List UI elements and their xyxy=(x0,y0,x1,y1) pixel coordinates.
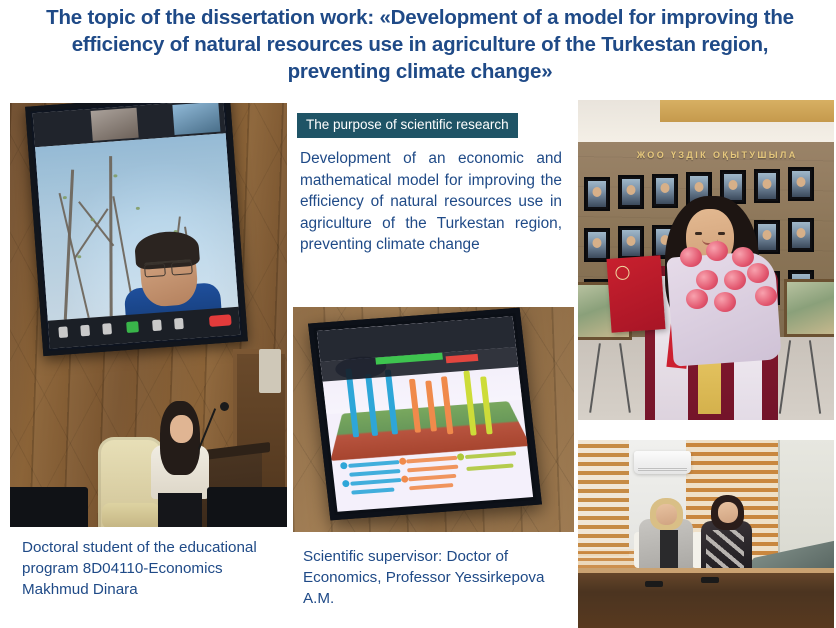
rose xyxy=(696,270,718,290)
purpose-body-text: Development of an economic and mathemati… xyxy=(300,148,562,256)
microphone-head xyxy=(220,402,229,411)
ceiling-trim xyxy=(660,100,834,122)
desk-monitor xyxy=(10,487,88,527)
mobile-phone xyxy=(645,581,663,587)
wall-screen-videoconference xyxy=(25,103,248,356)
participant-thumbnail xyxy=(172,103,220,135)
woman-left-blouse xyxy=(660,530,678,571)
wall-inscription: ЖОО ҮЗДІК ОҚЫТУШЫЛА xyxy=(637,150,798,160)
presenter-skirt xyxy=(158,493,202,527)
desk-monitor xyxy=(207,487,287,527)
hall-foreground xyxy=(10,347,287,527)
diploma-folder xyxy=(606,255,665,333)
purpose-badge: The purpose of scientific research xyxy=(297,113,518,138)
presenter-face xyxy=(170,415,193,443)
table-edge xyxy=(578,568,834,573)
woman-right-pattern xyxy=(706,530,744,568)
rose xyxy=(747,263,769,283)
wall-screen-diagram xyxy=(308,308,542,521)
rose xyxy=(714,292,736,312)
air-conditioner xyxy=(634,451,690,474)
framed-painting xyxy=(784,279,834,337)
diagram-content xyxy=(317,316,533,512)
rose xyxy=(724,270,746,290)
presentation-slide: The topic of the dissertation work: «Dev… xyxy=(0,0,836,628)
mobile-phone xyxy=(701,577,719,583)
title-text: The topic of the dissertation work: «Dev… xyxy=(20,4,820,85)
rose xyxy=(706,241,728,261)
woman-right-face xyxy=(718,502,738,523)
participant-thumbnail xyxy=(91,108,139,141)
page-title: The topic of the dissertation work: «Dev… xyxy=(20,4,820,85)
wall-speaker xyxy=(259,349,281,393)
photo-graduate-with-diploma: ЖОО ҮЗДІК ОҚЫТУШЫЛА xyxy=(578,100,834,420)
rose xyxy=(686,289,708,309)
active-speaker-video xyxy=(35,133,238,321)
screen-content xyxy=(33,103,241,349)
woman-left-face xyxy=(656,504,676,525)
caption-doctoral-student: Doctoral student of the educational prog… xyxy=(22,537,287,600)
speaker-glasses xyxy=(144,259,193,273)
photo-conference-presentation xyxy=(10,103,287,527)
photo-meeting-room xyxy=(578,440,834,628)
caption-scientific-supervisor: Scientific supervisor: Doctor of Economi… xyxy=(303,546,573,609)
photo-nitrogen-cycle-screen xyxy=(293,307,574,532)
microphone-stand xyxy=(198,408,216,450)
rose xyxy=(755,286,777,306)
